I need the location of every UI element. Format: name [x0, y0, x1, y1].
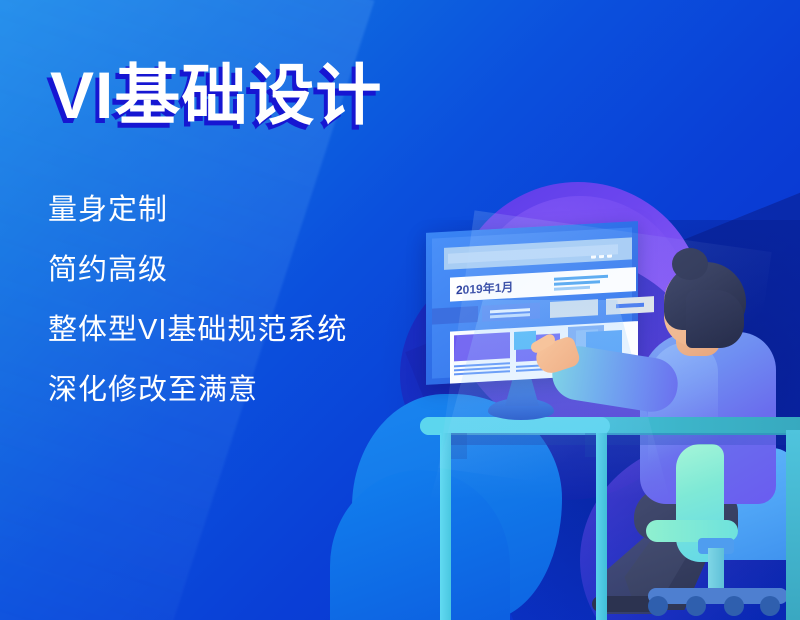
- office-chair-wheel: [648, 596, 668, 616]
- desk-edge-strip: [786, 430, 800, 620]
- subtitle-list: 量身定制 简约高级 整体型VI基础规范系统 深化修改至满意: [48, 196, 347, 405]
- vi-design-banner: 2019年1月: [0, 0, 800, 620]
- office-chair-wheel: [686, 596, 706, 616]
- office-chair-wheel: [724, 596, 744, 616]
- subtitle-item-4: 深化修改至满意: [48, 376, 347, 406]
- text-block: VI基础设计 量身定制 简约高级 整体型VI基础规范系统 深化修改至满意: [0, 0, 440, 620]
- page-title: VI基础设计: [50, 62, 382, 128]
- office-chair-wheel: [760, 596, 780, 616]
- subtitle-item-1: 量身定制: [48, 196, 347, 226]
- subtitle-item-3: 整体型VI基础规范系统: [48, 316, 347, 346]
- subtitle-item-2: 简约高级: [48, 256, 347, 286]
